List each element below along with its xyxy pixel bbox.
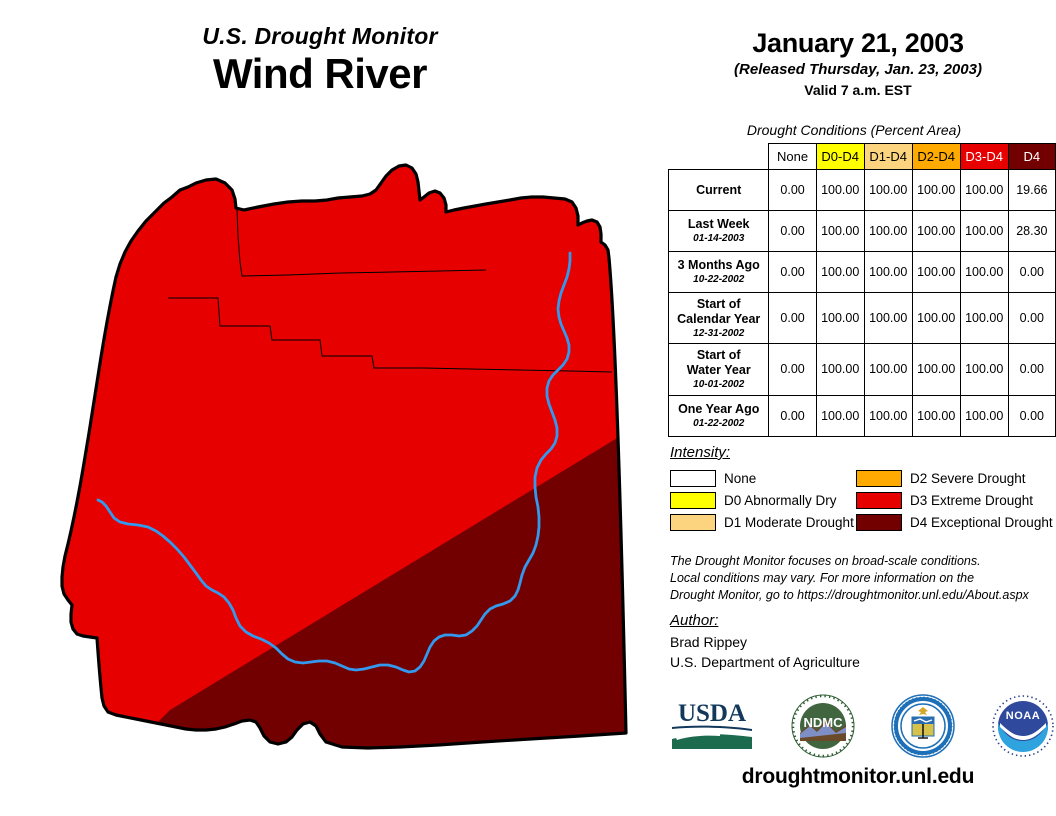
usda-logo: USDA [668, 697, 756, 755]
legend-grid: NoneD2 Severe DroughtD0 Abnormally DryD3… [670, 467, 1056, 533]
table-cell-value: 100.00 [912, 344, 960, 395]
legend-label: None [724, 471, 756, 486]
map-svg [20, 150, 650, 750]
logo-row: USDA NDMC [668, 690, 1056, 762]
intensity-legend: Intensity: NoneD2 Severe DroughtD0 Abnor… [670, 444, 1056, 533]
title-block: U.S. Drought Monitor Wind River [0, 24, 640, 97]
valid-time: Valid 7 a.m. EST [660, 82, 1056, 98]
table-header-row: None D0-D4 D1-D4 D2-D4 D3-D4 D4 [669, 144, 1056, 170]
table-row: Start ofCalendar Year12-31-20020.00100.0… [669, 293, 1056, 344]
column-header-none: None [769, 144, 816, 170]
table-row: 3 Months Ago10-22-20020.00100.00100.0010… [669, 252, 1056, 293]
table-row: One Year Ago01-22-20020.00100.00100.0010… [669, 395, 1056, 436]
table-row-date: 01-14-2003 [672, 233, 765, 245]
table-cell-value: 0.00 [769, 211, 816, 252]
table-cell-value: 100.00 [960, 211, 1008, 252]
legend-entry: D4 Exceptional Drought [856, 514, 1056, 531]
author-affiliation: U.S. Department of Agriculture [670, 652, 1050, 672]
table-cell-value: 100.00 [816, 170, 864, 211]
table-cell-value: 0.00 [1008, 293, 1055, 344]
table-cell-value: 100.00 [864, 395, 912, 436]
release-date: (Released Thursday, Jan. 23, 2003) [660, 61, 1056, 78]
author-block: Author: Brad Rippey U.S. Department of A… [670, 612, 1050, 673]
table-cell-value: 100.00 [864, 252, 912, 293]
author-title: Author: [670, 612, 1050, 629]
table-row: Current0.00100.00100.00100.00100.0019.66 [669, 170, 1056, 211]
noaa-logo: NOAA [990, 693, 1056, 759]
valid-date: January 21, 2003 [660, 28, 1056, 58]
table-row-label: 3 Months Ago10-22-2002 [669, 252, 769, 293]
table-row-label: One Year Ago01-22-2002 [669, 395, 769, 436]
ndmc-logo-text: NDMC [804, 715, 844, 730]
table-cell-value: 100.00 [864, 293, 912, 344]
table-cell-value: 100.00 [864, 170, 912, 211]
column-header-d1: D1-D4 [864, 144, 912, 170]
legend-color-swatch [670, 492, 716, 509]
table-cell-value: 100.00 [912, 211, 960, 252]
table-body: Current0.00100.00100.00100.00100.0019.66… [669, 170, 1056, 437]
site-url[interactable]: droughtmonitor.unl.edu [660, 765, 1056, 789]
table-cell-value: 100.00 [912, 395, 960, 436]
table-cell-value: 100.00 [864, 344, 912, 395]
column-header-d4: D4 [1008, 144, 1055, 170]
drought-map[interactable] [20, 150, 650, 750]
table-cell-value: 28.30 [1008, 211, 1055, 252]
table-row: Last Week01-14-20030.00100.00100.00100.0… [669, 211, 1056, 252]
table-row-label: Current [669, 170, 769, 211]
table-row-label: Last Week01-14-2003 [669, 211, 769, 252]
table-row: Start ofWater Year10-01-20020.00100.0010… [669, 344, 1056, 395]
table-caption: Drought Conditions (Percent Area) [660, 122, 1048, 138]
table-cell-value: 0.00 [1008, 344, 1055, 395]
column-header-d0: D0-D4 [816, 144, 864, 170]
legend-entry: D1 Moderate Drought [670, 514, 856, 531]
table-row-date: 01-22-2002 [672, 418, 765, 430]
legend-label: D0 Abnormally Dry [724, 493, 837, 508]
legend-color-swatch [856, 514, 902, 531]
table-cell-value: 100.00 [960, 293, 1008, 344]
legend-color-swatch [670, 470, 716, 487]
table-cell-value: 100.00 [816, 211, 864, 252]
table-cell-value: 100.00 [816, 344, 864, 395]
legend-color-swatch [670, 514, 716, 531]
table-cell-value: 0.00 [769, 293, 816, 344]
table-cell-value: 100.00 [960, 344, 1008, 395]
legend-label: D3 Extreme Drought [910, 493, 1033, 508]
table-cell-value: 100.00 [816, 395, 864, 436]
table-cell-value: 0.00 [769, 344, 816, 395]
table-head: None D0-D4 D1-D4 D2-D4 D3-D4 D4 [669, 144, 1056, 170]
legend-entry: D0 Abnormally Dry [670, 492, 856, 509]
table-cell-value: 100.00 [960, 395, 1008, 436]
date-block: January 21, 2003 (Released Thursday, Jan… [660, 28, 1056, 99]
column-header-d2: D2-D4 [912, 144, 960, 170]
legend-entry: None [670, 470, 856, 487]
table-cell-value: 100.00 [912, 252, 960, 293]
legend-entry: D2 Severe Drought [856, 470, 1056, 487]
disclaimer-text: The Drought Monitor focuses on broad-sca… [670, 553, 1050, 604]
table-cell-value: 0.00 [769, 252, 816, 293]
table-cell-value: 0.00 [769, 395, 816, 436]
legend-entry: D3 Extreme Drought [856, 492, 1056, 509]
region-title: Wind River [0, 51, 640, 97]
legend-color-swatch [856, 470, 902, 487]
legend-label: D1 Moderate Drought [724, 515, 854, 530]
table-cell-value: 0.00 [769, 170, 816, 211]
drought-monitor-title: U.S. Drought Monitor [0, 24, 640, 48]
table-cell-value: 100.00 [864, 211, 912, 252]
map-fill-layer [20, 150, 650, 750]
ndmc-logo: NDMC [790, 693, 856, 759]
table-row-date: 10-22-2002 [672, 274, 765, 286]
disclaimer-line-2: Local conditions may vary. For more info… [670, 570, 1050, 587]
intensity-title: Intensity: [670, 444, 1056, 461]
legend-color-swatch [856, 492, 902, 509]
table-cell-value: 100.00 [960, 170, 1008, 211]
usdc-seal [890, 693, 956, 759]
table-cell-value: 100.00 [960, 252, 1008, 293]
table-corner-cell [669, 144, 769, 170]
legend-label: D4 Exceptional Drought [910, 515, 1053, 530]
disclaimer-line-3: Drought Monitor, go to https://droughtmo… [670, 587, 1050, 604]
column-header-d3: D3-D4 [960, 144, 1008, 170]
drought-conditions-table: None D0-D4 D1-D4 D2-D4 D3-D4 D4 Current0… [668, 143, 1056, 437]
table-cell-value: 100.00 [912, 170, 960, 211]
noaa-logo-text: NOAA [1006, 710, 1040, 722]
legend-label: D2 Severe Drought [910, 471, 1026, 486]
table-row-date: 12-31-2002 [672, 328, 765, 340]
table-cell-value: 19.66 [1008, 170, 1055, 211]
map-panel: U.S. Drought Monitor Wind River [0, 0, 660, 816]
info-panel: January 21, 2003 (Released Thursday, Jan… [660, 0, 1056, 816]
table-cell-value: 0.00 [1008, 252, 1055, 293]
usda-logo-text: USDA [678, 700, 746, 727]
table-cell-value: 100.00 [816, 252, 864, 293]
table-row-date: 10-01-2002 [672, 379, 765, 391]
table-cell-value: 100.00 [912, 293, 960, 344]
author-name: Brad Rippey [670, 632, 1050, 652]
table-cell-value: 100.00 [816, 293, 864, 344]
table-row-label: Start ofWater Year10-01-2002 [669, 344, 769, 395]
table-cell-value: 0.00 [1008, 395, 1055, 436]
table-row-label: Start ofCalendar Year12-31-2002 [669, 293, 769, 344]
disclaimer-line-1: The Drought Monitor focuses on broad-sca… [670, 553, 1050, 570]
